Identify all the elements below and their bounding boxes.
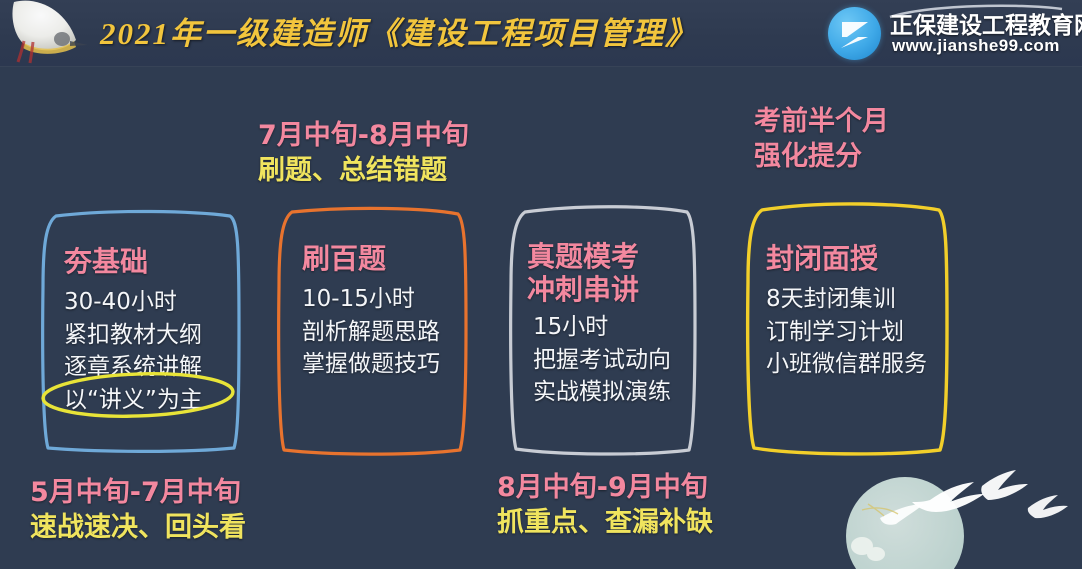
z-swoosh-logo-icon xyxy=(828,7,881,60)
card-title-line-1: 真题模考 xyxy=(527,240,727,273)
card-line: 剖析解题思路 xyxy=(302,316,507,349)
card-line: 掌握做题技巧 xyxy=(302,348,507,381)
annotation-stage-two-top: 7月中旬-8月中旬 刷题、总结错题 xyxy=(258,118,469,188)
annotation-line-1: 8月中旬-9月中旬 xyxy=(497,470,713,505)
annotation-line-2: 刷题、总结错题 xyxy=(258,153,469,188)
card-line: 逐章系统讲解 xyxy=(64,351,280,384)
card-title-line-2: 冲刺串讲 xyxy=(527,273,727,306)
brand-mark-circle xyxy=(828,7,881,60)
card-line: 15小时 xyxy=(527,311,727,344)
page-title: 2021年一级建造师《建设工程项目管理》 xyxy=(100,8,698,53)
brand-logo[interactable]: 正保建设工程教育网 www.jianshe99.com xyxy=(824,3,1074,63)
seagull-icon xyxy=(4,0,96,66)
card-line: 30-40小时 xyxy=(64,286,280,319)
decor-birds-group xyxy=(832,454,1082,569)
annotation-line-2: 抓重点、查漏补缺 xyxy=(497,505,713,540)
annotation-stage-three-bottom: 8月中旬-9月中旬 抓重点、查漏补缺 xyxy=(497,470,713,540)
card-line-highlighted: 以“讲义”为主 xyxy=(64,384,280,417)
flying-birds-icon xyxy=(832,454,1082,569)
card-hundred-questions[interactable]: 刷百题 10-15小时 剖析解题思路 掌握做题技巧 xyxy=(272,204,477,461)
card-line: 小班微信群服务 xyxy=(766,348,984,381)
annotation-stage-four-top: 考前半个月 强化提分 xyxy=(754,104,889,174)
card-foundation[interactable]: 夯基础 30-40小时 紧扣教材大纲 逐章系统讲解 以“讲义”为主 xyxy=(34,207,250,459)
annotation-line-2: 强化提分 xyxy=(754,139,889,174)
card-title: 刷百题 xyxy=(302,242,507,275)
card-mock-exam[interactable]: 真题模考 冲刺串讲 15小时 把握考试动向 实战模拟演练 xyxy=(505,202,705,460)
slide-canvas: 2021年一级建造师《建设工程项目管理》 正保建设工程教育网 www.jians… xyxy=(0,0,1082,569)
card-closed-training[interactable]: 封闭面授 8天封闭集训 订制学习计划 小班微信群服务 xyxy=(740,198,958,460)
card-title: 夯基础 xyxy=(64,245,280,278)
annotation-line-1: 5月中旬-7月中旬 xyxy=(30,475,246,510)
card-line: 订制学习计划 xyxy=(766,316,984,349)
card-line: 把握考试动向 xyxy=(527,344,727,377)
annotation-line-1: 考前半个月 xyxy=(754,104,889,139)
annotation-line-2: 速战速决、回头看 xyxy=(30,510,246,545)
annotation-line-1: 7月中旬-8月中旬 xyxy=(258,118,469,153)
brand-name: 正保建设工程教育网 xyxy=(890,6,1082,40)
card-title: 封闭面授 xyxy=(766,242,984,275)
annotation-stage-one-bottom: 5月中旬-7月中旬 速战速决、回头看 xyxy=(30,475,246,545)
card-line: 紧扣教材大纲 xyxy=(64,319,280,352)
card-line: 8天封闭集训 xyxy=(766,283,984,316)
card-line: 10-15小时 xyxy=(302,283,507,316)
card-line: 实战模拟演练 xyxy=(527,376,727,409)
brand-url[interactable]: www.jianshe99.com xyxy=(892,36,1060,56)
